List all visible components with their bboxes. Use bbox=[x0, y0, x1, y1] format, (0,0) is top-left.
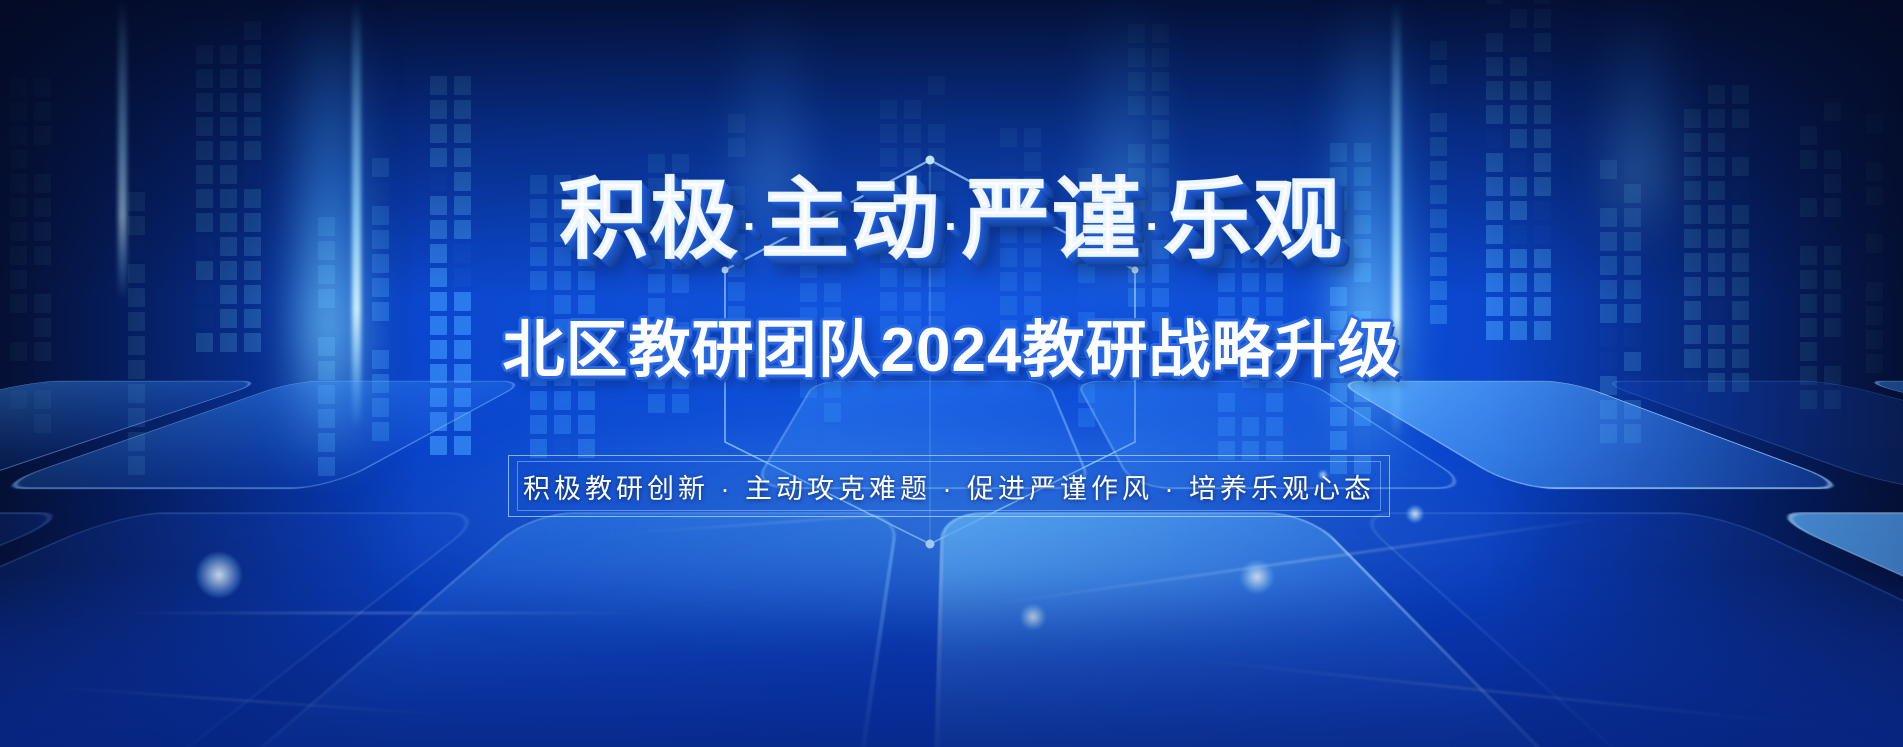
headline-segment: 积极 bbox=[559, 170, 739, 269]
headline-separator: · bbox=[941, 205, 962, 249]
page-title: 积极·主动·严谨·乐观 bbox=[0, 176, 1903, 264]
banner-stage: 积极·主动·严谨·乐观 北区教研团队2024教研战略升级 积极教研创新 · 主动… bbox=[0, 0, 1903, 747]
tagline-box: 积极教研创新 · 主动攻克难题 · 促进严谨作风 · 培养乐观心态 bbox=[508, 455, 1390, 517]
headline-segment: 乐观 bbox=[1164, 170, 1344, 269]
headline-separator: · bbox=[1142, 205, 1163, 249]
tagline-text: 积极教研创新 · 主动攻克难题 · 促进严谨作风 · 培养乐观心态 bbox=[508, 455, 1390, 517]
banner-content: 积极·主动·严谨·乐观 北区教研团队2024教研战略升级 积极教研创新 · 主动… bbox=[0, 0, 1903, 747]
headline-segment: 主动 bbox=[761, 170, 941, 269]
headline-segment: 严谨 bbox=[962, 170, 1142, 269]
page-subtitle: 北区教研团队2024教研战略升级 bbox=[0, 320, 1903, 382]
headline-separator: · bbox=[739, 205, 760, 249]
